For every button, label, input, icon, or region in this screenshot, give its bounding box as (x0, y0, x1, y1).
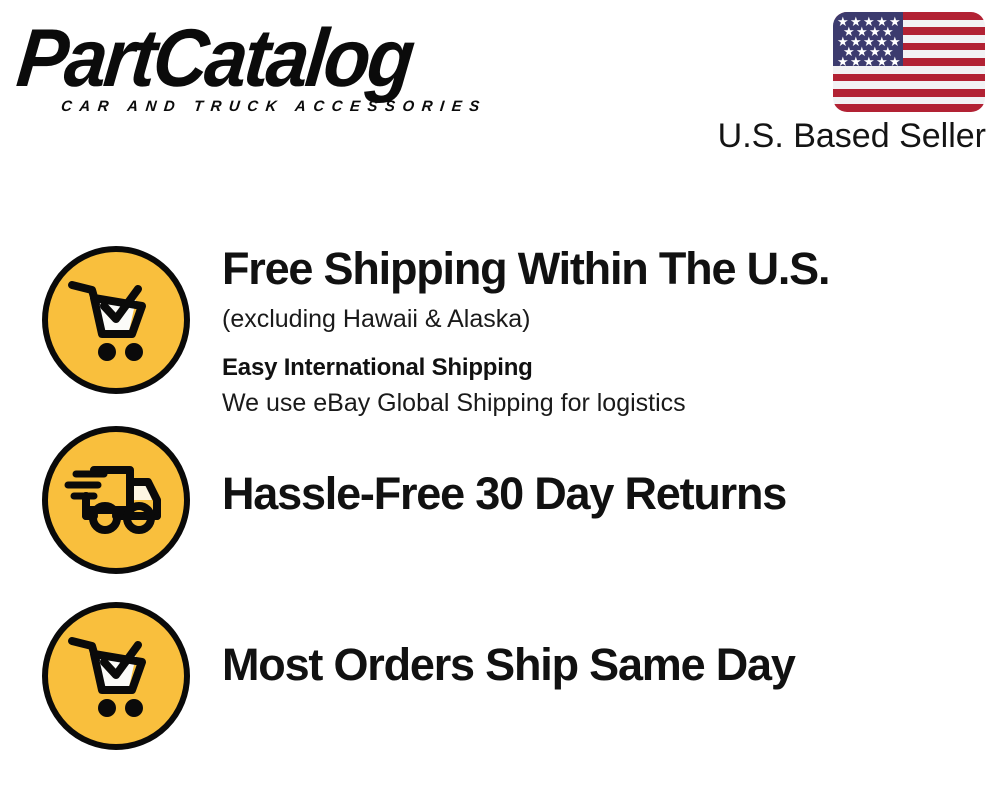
feature-title: Free Shipping Within The U.S. (222, 242, 980, 296)
flag-star (837, 56, 848, 67)
brand-wordmark: PartCatalog (13, 18, 492, 100)
flag-star (876, 56, 887, 67)
page-header: PartCatalog CAR AND TRUCK ACCESSORIES (0, 0, 1000, 175)
feature-title: Hassle-Free 30 Day Returns (222, 467, 980, 521)
brand-tagline: CAR AND TRUCK ACCESSORIES (60, 98, 487, 115)
feature-row: Most Orders Ship Same Day (0, 590, 1000, 760)
shopping-cart-check-icon (42, 246, 190, 394)
flag-stripe (833, 104, 985, 112)
feature-row: Hassle-Free 30 Day Returns (0, 412, 1000, 590)
feature-subtitle: (excluding Hawaii & Alaska) (222, 302, 980, 336)
feature-list: Free Shipping Within The U.S. (excluding… (0, 232, 1000, 760)
flag-canton (833, 12, 903, 66)
flag-stripe (833, 97, 985, 105)
flag-stripe (833, 89, 985, 97)
feature-subtitle-bold: Easy International Shipping (222, 352, 980, 384)
delivery-truck-icon (42, 426, 190, 574)
flag-star (889, 56, 900, 67)
flag-stripe (833, 81, 985, 89)
feature-row: Free Shipping Within The U.S. (excluding… (0, 232, 1000, 412)
brand-logo[interactable]: PartCatalog CAR AND TRUCK ACCESSORIES (22, 18, 492, 113)
feature-text-block: Hassle-Free 30 Day Returns (222, 467, 980, 521)
seller-location-label: U.S. Based Seller (718, 116, 986, 156)
feature-text-block: Most Orders Ship Same Day (222, 638, 980, 692)
feature-text-block: Free Shipping Within The U.S. (excluding… (222, 242, 980, 420)
flag-star (863, 56, 874, 67)
flag-stripe (833, 74, 985, 82)
flag-star (850, 56, 861, 67)
shopping-cart-check-icon (42, 602, 190, 750)
feature-title: Most Orders Ship Same Day (222, 638, 980, 692)
us-flag-icon (833, 12, 985, 112)
